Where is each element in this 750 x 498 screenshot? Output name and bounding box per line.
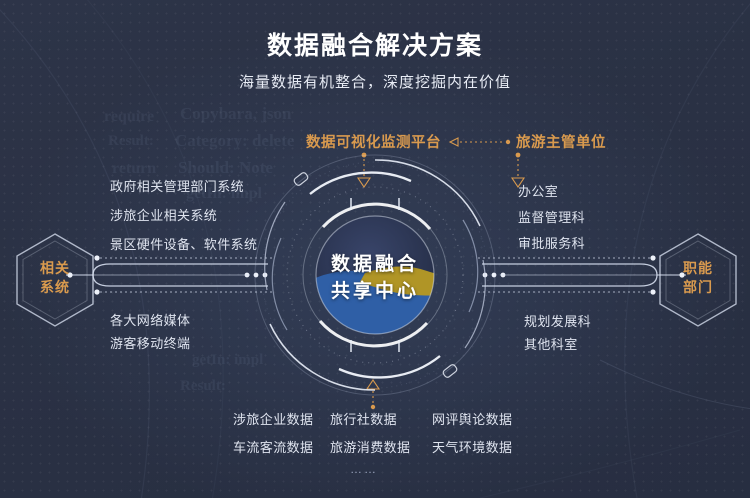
right-department-item: 办公室: [518, 181, 558, 200]
right-department-item: 审批服务科: [518, 233, 585, 252]
hexagon-right-line1: 职能: [655, 259, 741, 278]
bottom-data-item: 天气环境数据: [432, 437, 512, 456]
bottom-data-item: 涉旅企业数据: [233, 409, 313, 428]
bottom-data-item: 旅游消费数据: [330, 437, 410, 456]
hexagon-left-label: 相关 系统: [12, 259, 98, 297]
hub-label: 数据融合 共享中心: [275, 251, 475, 305]
left-source-item: 政府相关管理部门系统: [110, 176, 244, 195]
left-source-item: 景区硬件设备、软件系统: [110, 234, 257, 253]
hub-label-line1: 数据融合: [275, 251, 475, 278]
infographic-canvas: Copybara, json Category: delete Should: …: [0, 0, 750, 498]
right-department-item: 规划发展科: [524, 311, 591, 330]
hexagon-right-label: 职能 部门: [655, 259, 741, 297]
hub-label-line2: 共享中心: [275, 278, 475, 305]
bottom-ellipsis: ……: [350, 462, 378, 476]
left-source-item: 各大网络媒体: [110, 310, 190, 329]
hexagon-right-line2: 部门: [655, 278, 741, 297]
right-department-item: 其他科室: [524, 334, 578, 353]
left-source-item: 涉旅企业相关系统: [110, 205, 217, 224]
hexagon-left-line1: 相关: [12, 259, 98, 278]
left-source-item: 游客移动终端: [110, 333, 190, 352]
right-department-item: 监督管理科: [518, 207, 585, 226]
hexagon-left-line2: 系统: [12, 278, 98, 297]
bottom-data-item: 车流客流数据: [233, 437, 313, 456]
bottom-data-item: 旅行社数据: [330, 409, 397, 428]
bottom-data-item: 网评舆论数据: [432, 409, 512, 428]
